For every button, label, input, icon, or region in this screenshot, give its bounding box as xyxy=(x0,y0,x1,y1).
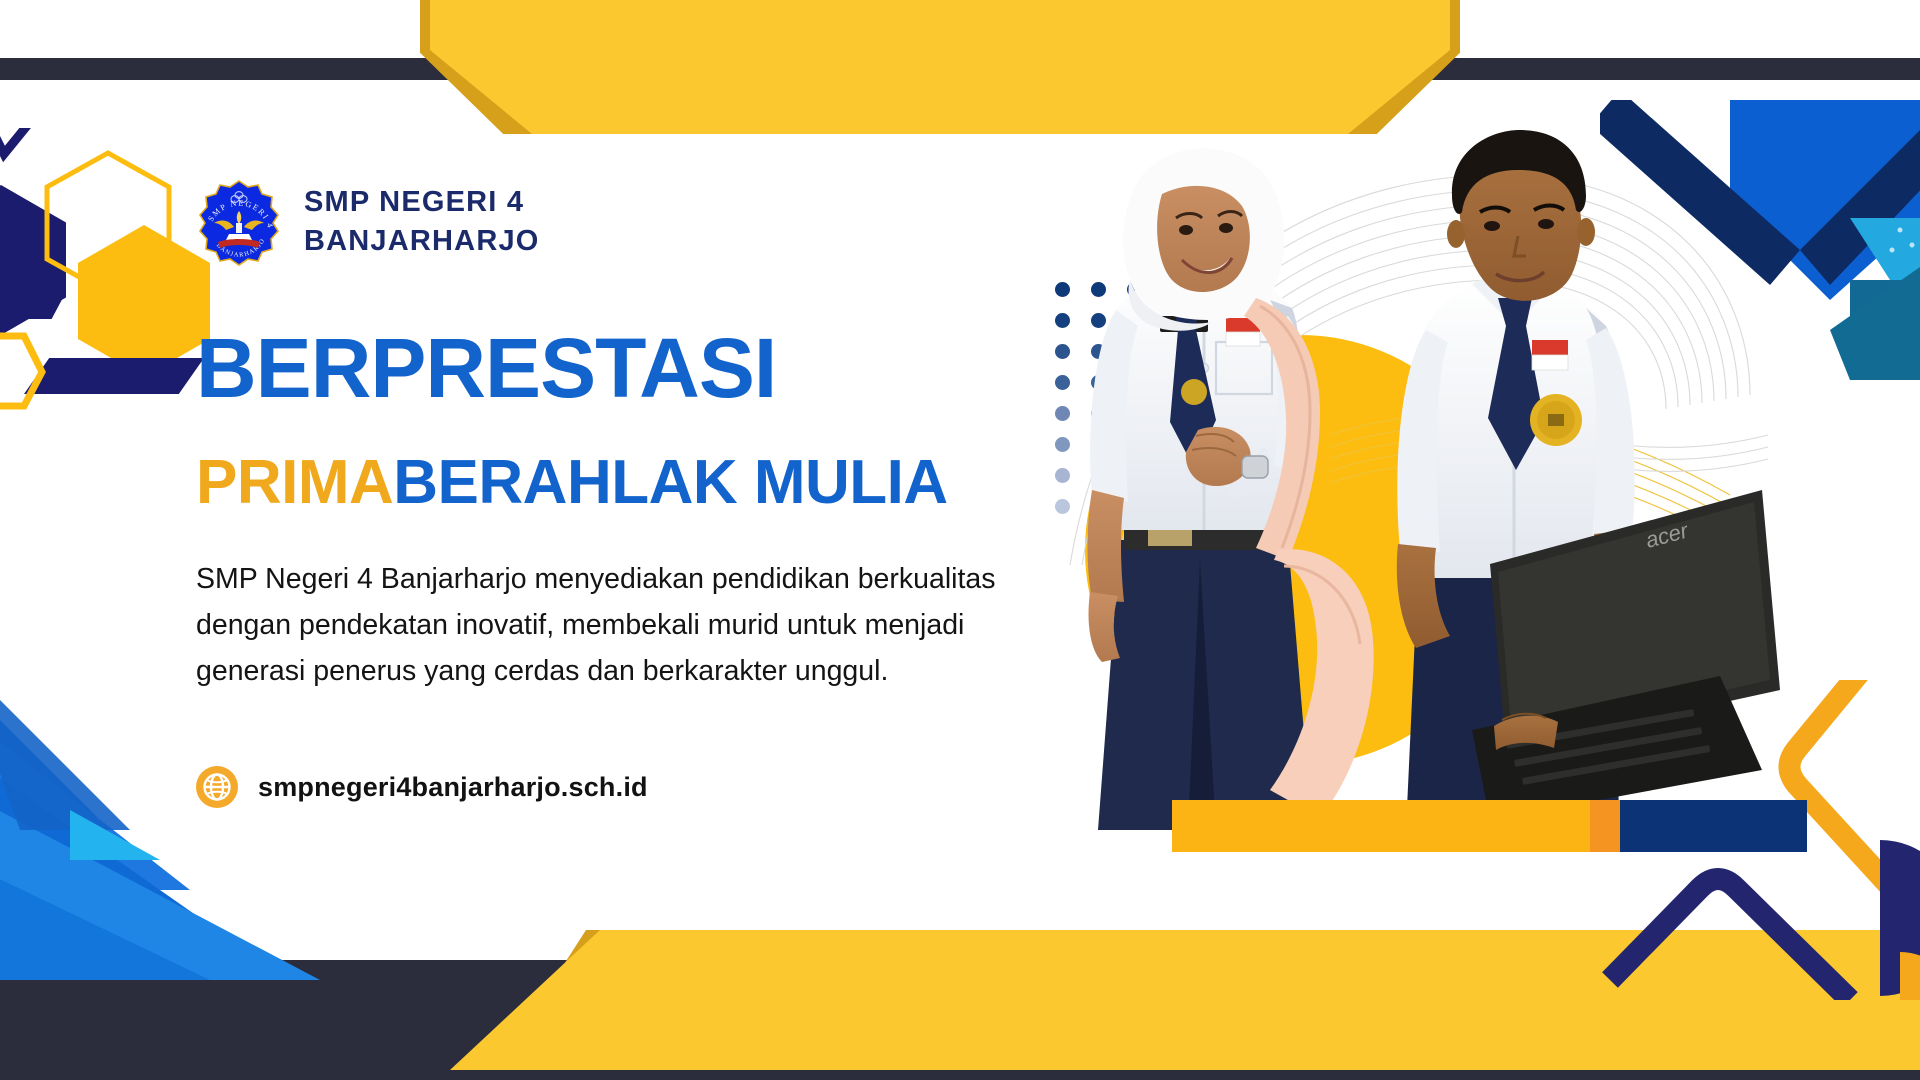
school-name: SMP NEGERI 4 BANJARHARJO xyxy=(304,183,540,261)
students-photo: acer xyxy=(1020,130,1780,830)
poster-canvas: acer SMP NEGERI 4 xyxy=(0,0,1920,1080)
headline-primary: BERPRESTASI xyxy=(196,326,1076,410)
globe-icon xyxy=(196,766,238,808)
orange-bar-under-photo xyxy=(1172,800,1627,852)
school-crest-icon: SMP NEGERI 4 BANJARHARJO xyxy=(196,178,282,266)
headline-accent-word: PRIMA xyxy=(196,448,393,517)
description-text: SMP Negeri 4 Banjarharjo menyediakan pen… xyxy=(196,556,1026,694)
yellow-ribbon-banner-top xyxy=(420,0,1460,134)
yellow-zigzag-line-left xyxy=(0,330,140,410)
navy-tick-mark-icon xyxy=(0,128,42,168)
headline-main-words: BERAHLAK MULIA xyxy=(393,448,947,517)
website-url[interactable]: smpnegeri4banjarharjo.sch.id xyxy=(258,772,648,803)
navy-bar-under-photo xyxy=(1620,800,1807,852)
brand-lockup: SMP NEGERI 4 BANJARHARJO SMP NEGER xyxy=(196,178,1076,266)
hero-content: SMP NEGERI 4 BANJARHARJO SMP NEGER xyxy=(196,178,1076,808)
website-row[interactable]: smpnegeri4banjarharjo.sch.id xyxy=(196,766,1076,808)
headline-secondary: PRIMABERAHLAK MULIA xyxy=(196,452,1076,514)
banner-top-face xyxy=(430,0,1450,134)
